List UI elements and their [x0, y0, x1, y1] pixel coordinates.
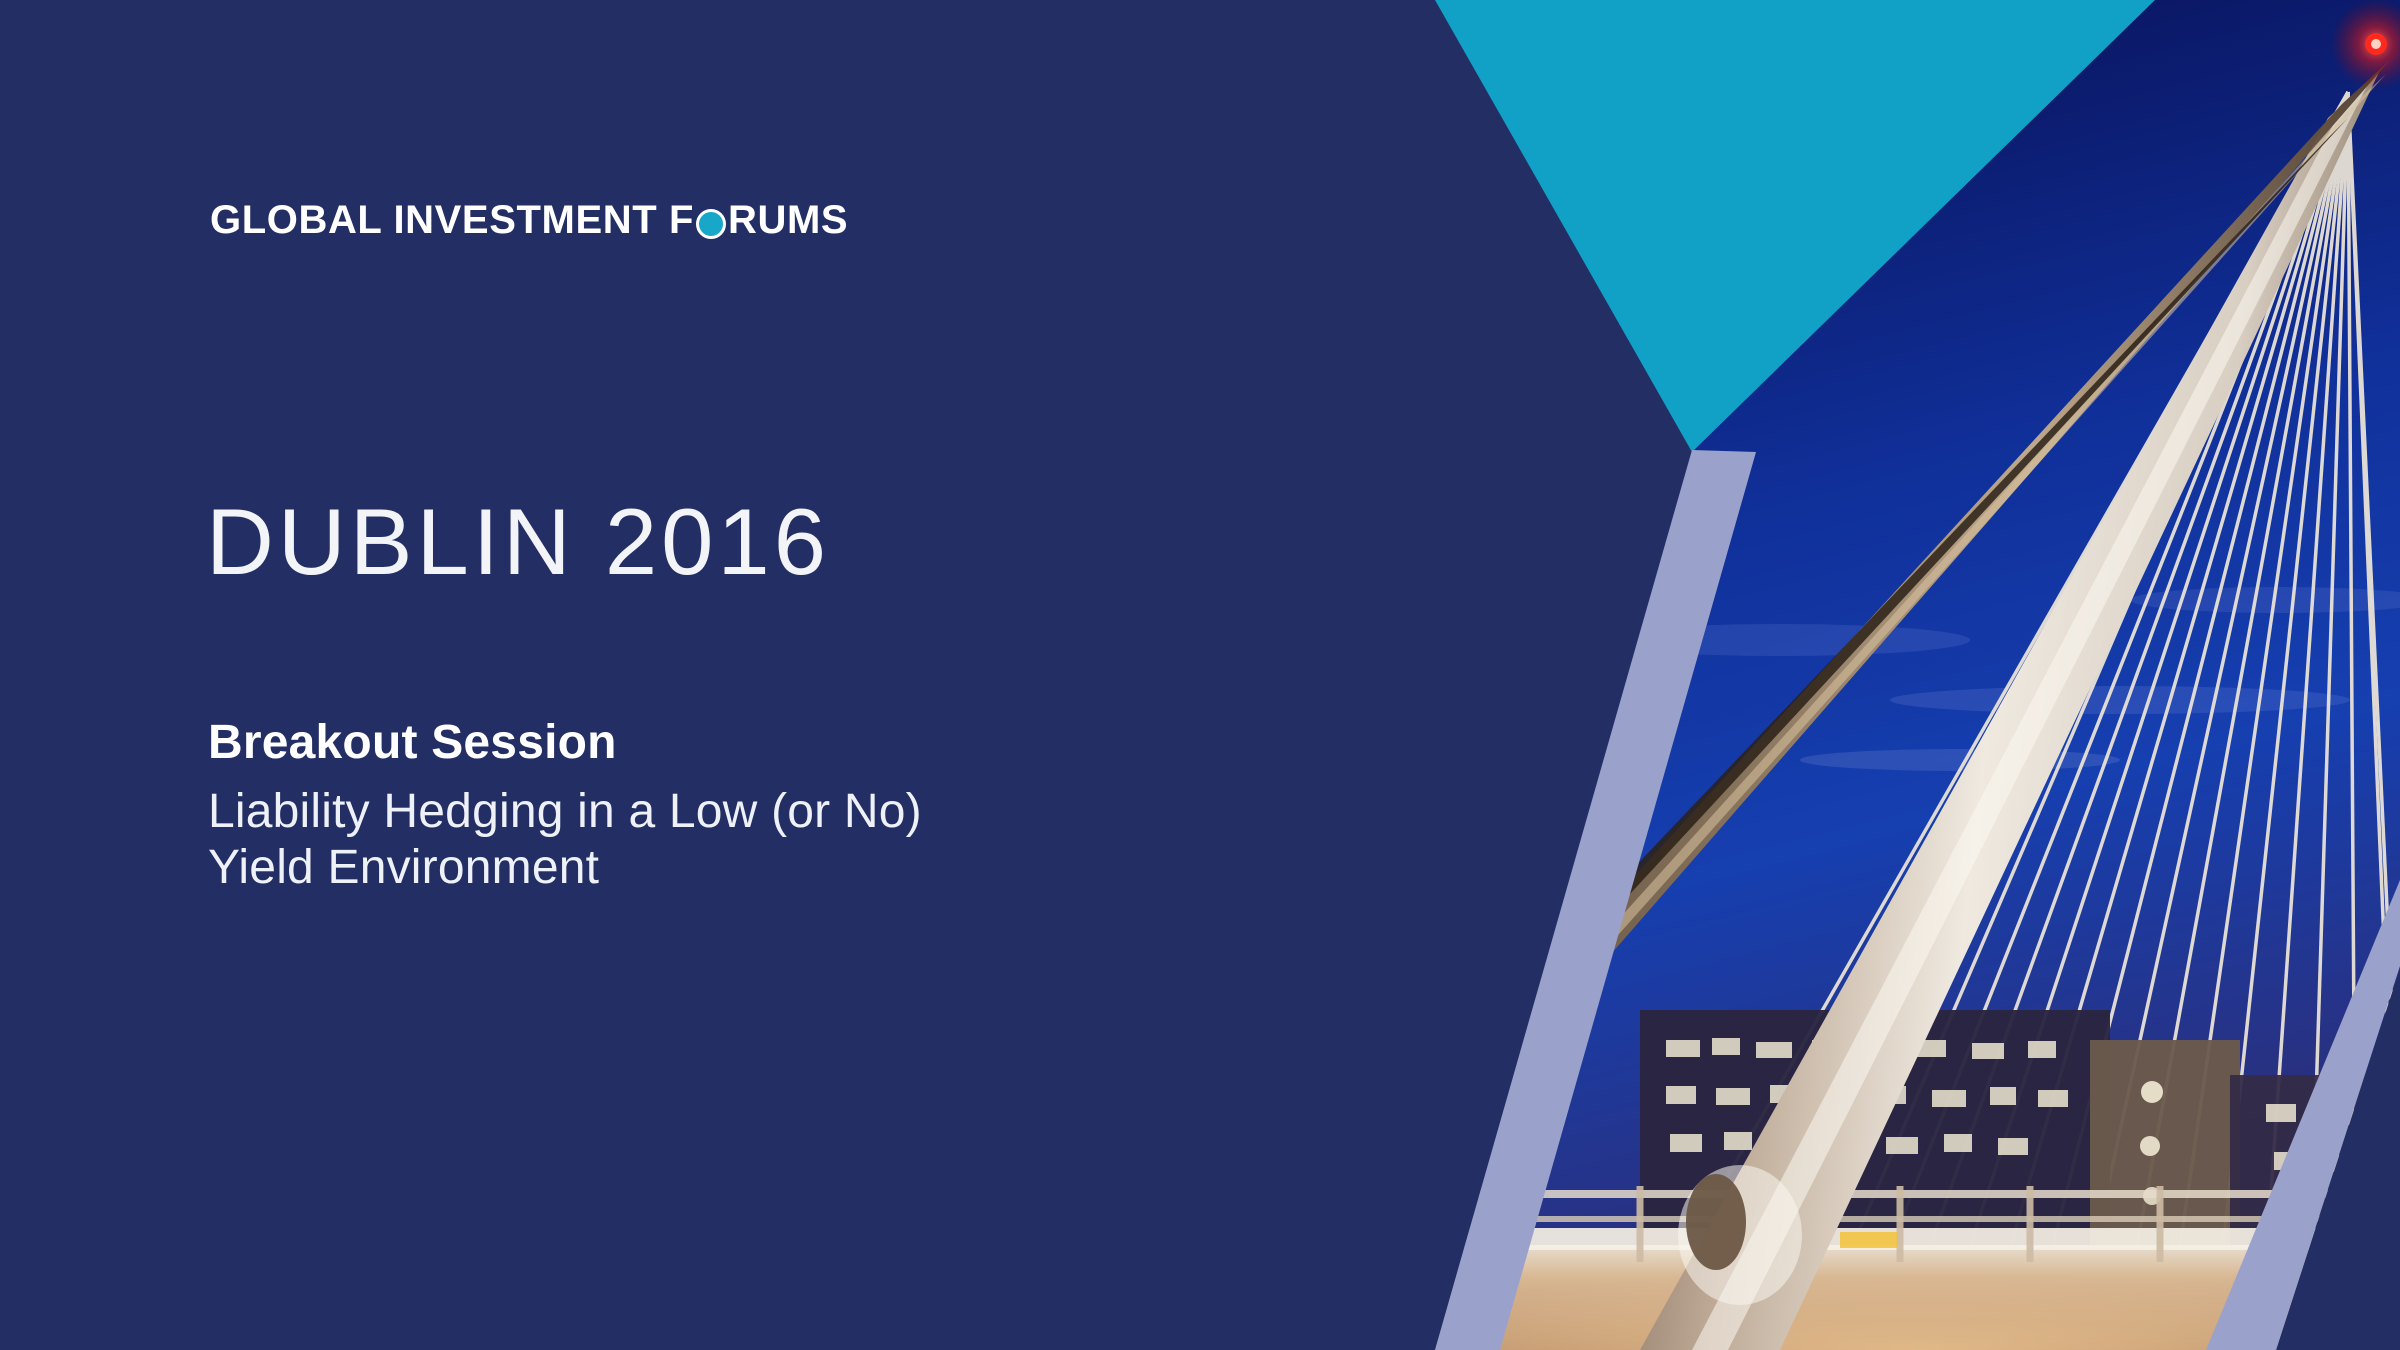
session-title-line-1: Liability Hedging in a Low (or No) — [208, 784, 1188, 841]
logo-circle-o-icon — [696, 209, 726, 239]
brand-logo: GLOBAL INVESTMENT F RUMS — [210, 200, 848, 240]
title-slide: GLOBAL INVESTMENT F RUMS DUBLIN 2016 Bre… — [0, 0, 2400, 1350]
logo-text-before: GLOBAL INVESTMENT F — [210, 200, 694, 240]
session-title-line-2: Yield Environment — [208, 840, 1188, 897]
artwork-svg — [1080, 0, 2400, 1350]
session-kicker: Breakout Session — [208, 715, 1188, 772]
slide-content: GLOBAL INVESTMENT F RUMS DUBLIN 2016 Bre… — [0, 0, 1200, 1350]
bridge-artwork — [1080, 0, 2400, 1350]
logo-text-after: RUMS — [728, 200, 848, 240]
deck-sculpture — [1678, 1165, 1802, 1305]
page-title: DUBLIN 2016 — [206, 495, 830, 589]
session-block: Breakout Session Liability Hedging in a … — [208, 715, 1188, 897]
